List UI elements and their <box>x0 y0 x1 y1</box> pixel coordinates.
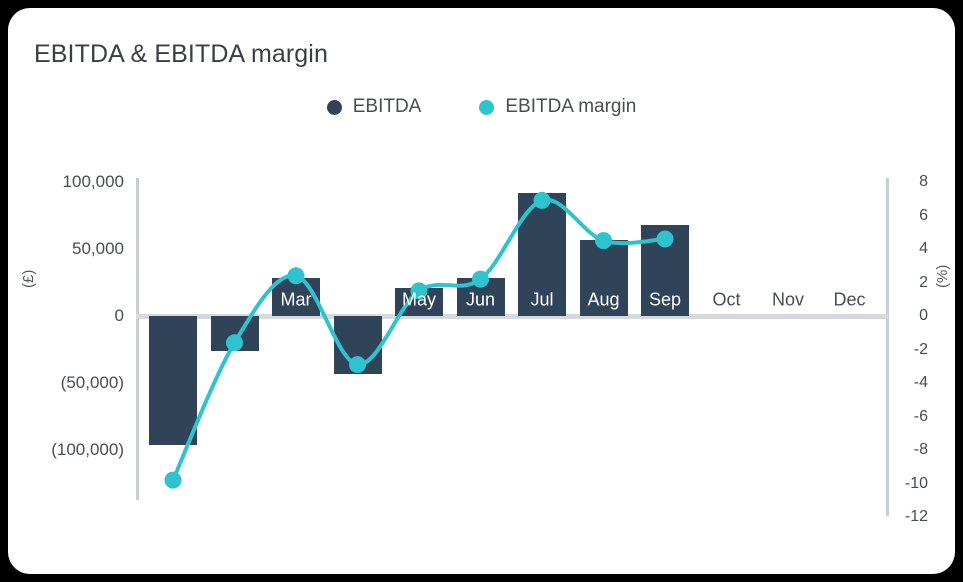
line-point-apr[interactable] <box>349 356 366 373</box>
x-axis-label-jun: Jun <box>466 290 495 311</box>
line-point-aug[interactable] <box>595 232 612 249</box>
x-axis-label-sep: Sep <box>649 290 681 311</box>
x-axis-label-nov: Nov <box>772 290 804 311</box>
line-point-sep[interactable] <box>657 230 674 247</box>
line-point-jun[interactable] <box>472 271 489 288</box>
line-point-feb[interactable] <box>226 334 243 351</box>
x-axis-label-mar: Mar <box>281 290 312 311</box>
x-axis-label-jul: Jul <box>530 290 553 311</box>
line-point-mar[interactable] <box>288 267 305 284</box>
line-point-jan[interactable] <box>165 472 182 489</box>
x-axis-label-apr: Apr <box>343 290 371 311</box>
x-axis-label-may: May <box>402 290 436 311</box>
x-axis-label-aug: Aug <box>587 290 619 311</box>
x-axis-label-oct: Oct <box>712 290 740 311</box>
x-axis-label-jan: Jan <box>158 290 187 311</box>
x-axis-label-feb: Feb <box>219 290 250 311</box>
plot-area: (£) (%) 100,00050,0000(50,000)(100,000) … <box>8 8 955 574</box>
chart-card: EBITDA & EBITDA margin EBITDA EBITDA mar… <box>8 8 955 574</box>
line-point-jul[interactable] <box>534 192 551 209</box>
x-axis-label-dec: Dec <box>833 290 865 311</box>
